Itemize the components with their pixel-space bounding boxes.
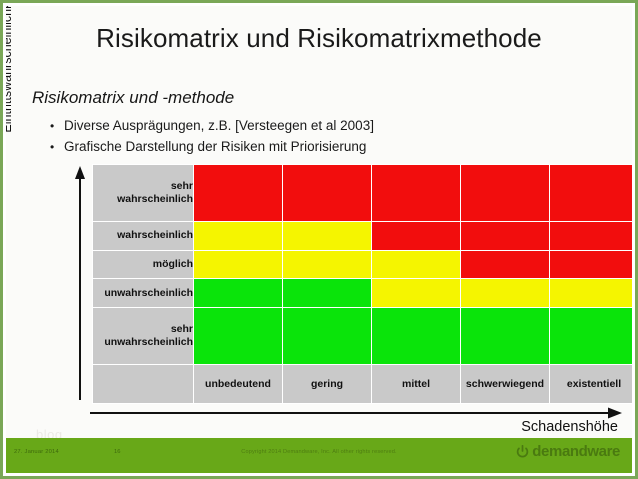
- arrow-right-icon: [90, 406, 622, 420]
- list-item-label: Grafische Darstellung der Risiken mit Pr…: [64, 137, 570, 158]
- table-row: wahrscheinlich: [93, 222, 632, 250]
- table-row: sehr wahrscheinlich: [93, 165, 632, 221]
- matrix-cell-r3c2: [283, 251, 371, 279]
- bullet-list: • Diverse Ausprägungen, z.B. [Versteegen…: [50, 116, 570, 158]
- matrix-cell-r5c5: [550, 308, 632, 364]
- matrix-cell-r2c4: [461, 222, 549, 250]
- demandware-logo-text: demandware: [532, 443, 620, 460]
- slide-canvas: Risikomatrix und Risikomatrixmethode Ris…: [6, 6, 632, 473]
- matrix-cell-r5c2: [283, 308, 371, 364]
- matrix-cell-r1c3: [372, 165, 460, 221]
- row-label-text: möglich: [153, 258, 193, 270]
- matrix-cell-r3c5: [550, 251, 632, 279]
- power-icon: [516, 445, 529, 458]
- bullet-point-icon: •: [50, 117, 64, 136]
- matrix-cell-r2c3: [372, 222, 460, 250]
- x-axis-label: Schadenshöhe: [521, 419, 618, 435]
- matrix-cell-r1c1: [194, 165, 282, 221]
- matrix-cell-r4c2: [283, 279, 371, 307]
- row-label-unwahrscheinlich: unwahrscheinlich: [93, 279, 193, 307]
- risk-matrix: sehr wahrscheinlich wahrscheinlich: [92, 164, 632, 404]
- matrix-cell-r4c3: [372, 279, 460, 307]
- table-row: möglich: [93, 251, 632, 279]
- y-axis-label: Eintrittswahrscheinlichkeit: [6, 6, 18, 166]
- matrix-cell-r4c5: [550, 279, 632, 307]
- risk-matrix-table: sehr wahrscheinlich wahrscheinlich: [92, 164, 632, 404]
- page-title: Risikomatrix und Risikomatrixmethode: [6, 24, 632, 53]
- section-subtitle: Risikomatrix und -methode: [32, 88, 234, 108]
- matrix-cell-r2c1: [194, 222, 282, 250]
- matrix-cell-r5c3: [372, 308, 460, 364]
- slide: Risikomatrix und Risikomatrixmethode Ris…: [0, 0, 638, 479]
- matrix-cell-r2c5: [550, 222, 632, 250]
- matrix-cell-r3c3: [372, 251, 460, 279]
- list-item: • Grafische Darstellung der Risiken mit …: [50, 137, 570, 158]
- demandware-logo: demandware: [516, 443, 620, 460]
- matrix-cell-r5c4: [461, 308, 549, 364]
- row-label-wahrscheinlich: wahrscheinlich: [93, 222, 193, 250]
- matrix-cell-r5c1: [194, 308, 282, 364]
- row-label-text: wahrscheinlich: [117, 229, 193, 241]
- row-label-sehr-wahrscheinlich: sehr wahrscheinlich: [93, 165, 193, 221]
- table-row-column-headers: unbedeutend gering mittel schwerwiegend …: [93, 365, 632, 403]
- column-label-gering: gering: [283, 365, 371, 403]
- row-label-moeglich: möglich: [93, 251, 193, 279]
- bullet-point-icon: •: [50, 138, 64, 157]
- matrix-corner-cell: [93, 365, 193, 403]
- matrix-cell-r1c2: [283, 165, 371, 221]
- matrix-cell-r4c4: [461, 279, 549, 307]
- row-label-text: sehr wahrscheinlich: [117, 180, 193, 205]
- column-label-mittel: mittel: [372, 365, 460, 403]
- matrix-cell-r1c5: [550, 165, 632, 221]
- table-row: unwahrscheinlich: [93, 279, 632, 307]
- slide-footer: 27. Januar 2014 16 Copyright 2014 Demand…: [6, 438, 632, 473]
- column-label-schwerwiegend: schwerwiegend: [461, 365, 549, 403]
- row-label-text: unwahrscheinlich: [104, 287, 193, 299]
- matrix-cell-r4c1: [194, 279, 282, 307]
- row-label-sehr-unwahrscheinlich: sehr unwahrscheinlich: [93, 308, 193, 364]
- column-label-unbedeutend: unbedeutend: [194, 365, 282, 403]
- arrow-up-icon: [74, 166, 86, 400]
- matrix-cell-r3c4: [461, 251, 549, 279]
- row-label-text: sehr unwahrscheinlich: [104, 323, 193, 348]
- column-label-existentiell: existentiell: [550, 365, 632, 403]
- table-row: sehr unwahrscheinlich: [93, 308, 632, 364]
- list-item: • Diverse Ausprägungen, z.B. [Versteegen…: [50, 116, 570, 137]
- matrix-cell-r1c4: [461, 165, 549, 221]
- list-item-label: Diverse Ausprägungen, z.B. [Versteegen e…: [64, 116, 570, 137]
- matrix-cell-r3c1: [194, 251, 282, 279]
- matrix-cell-r2c2: [283, 222, 371, 250]
